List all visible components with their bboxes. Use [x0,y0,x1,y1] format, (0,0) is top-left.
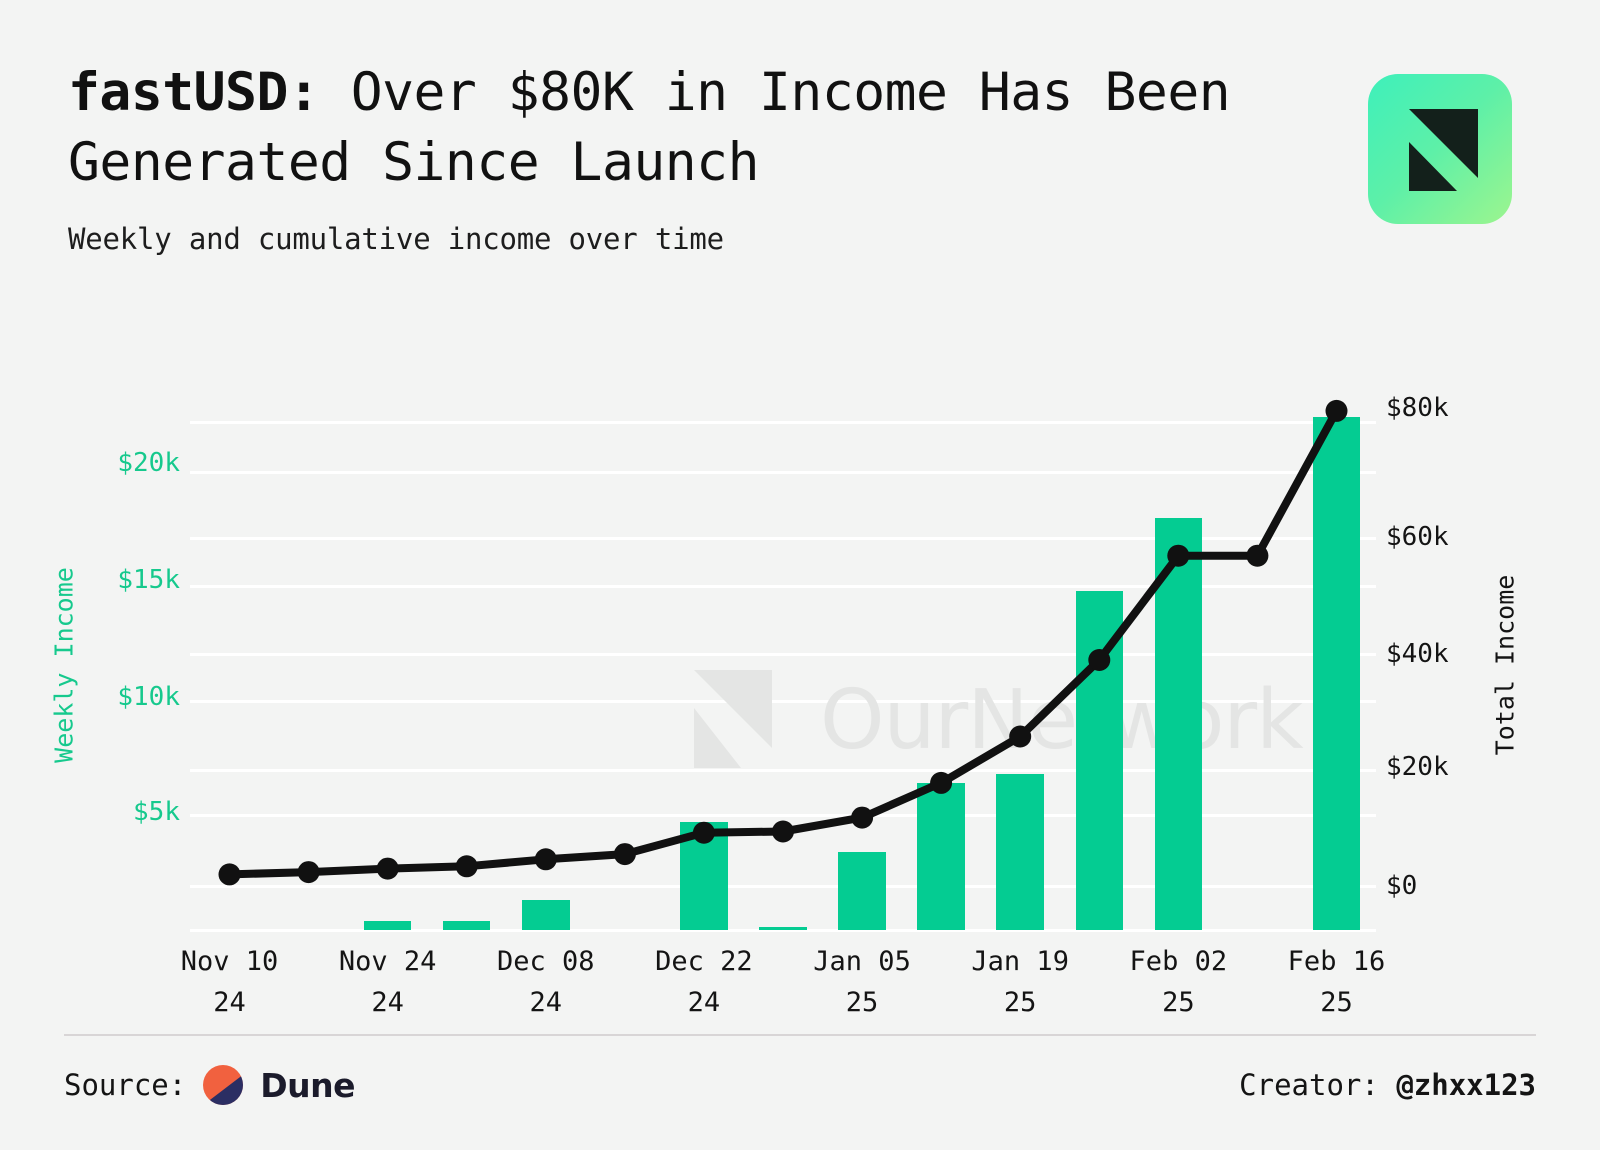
line-series [190,400,1376,930]
x-axis-tick-date: Dec 08 [497,942,595,983]
line-marker [219,863,241,885]
y-axis-left-tick: $15k [117,565,180,595]
y-axis-left-tick: $20k [117,448,180,478]
creator-label: Creator: [1239,1068,1379,1102]
x-axis-tick: Dec 2224 [655,942,753,1023]
y-axis-left-title: Weekly Income [50,567,79,763]
x-axis-tick-year: 24 [181,983,279,1024]
x-axis-tick: Feb 1625 [1288,942,1386,1023]
x-axis-tick: Jan 1925 [971,942,1069,1023]
y-axis-right-title: Total Income [1491,575,1520,756]
page-subtitle: Weekly and cumulative income over time [68,222,1368,256]
dune-logo-icon [202,1064,244,1106]
x-axis-tick-date: Jan 05 [813,942,911,983]
y-axis-left-tick: $5k [133,797,180,827]
source-name: Dune [260,1066,355,1105]
line-marker [1326,400,1348,422]
y-axis-right-tick: $60k [1386,522,1449,552]
x-axis-tick: Jan 0525 [813,942,911,1023]
x-axis-tick-year: 25 [1130,983,1228,1024]
x-axis-tick: Feb 0225 [1130,942,1228,1023]
x-axis-tick-year: 24 [497,983,595,1024]
x-axis-tick-date: Feb 02 [1130,942,1228,983]
line-marker [1167,545,1189,567]
ournetwork-logo-icon [1368,74,1512,224]
line-marker [772,821,794,843]
page-title: fastUSD: Over $80K in Income Has Been Ge… [68,58,1368,198]
line-marker [614,843,636,865]
line-marker [693,822,715,844]
line-marker [851,807,873,829]
x-axis-tick-date: Dec 22 [655,942,753,983]
footer-divider [64,1034,1536,1036]
x-axis-tick-date: Nov 10 [181,942,279,983]
x-axis-tick: Nov 2424 [339,942,437,1023]
creator-handle: @zhxx123 [1396,1068,1536,1102]
cumulative-line [230,411,1337,875]
source-block: Source: Dune [64,1064,355,1106]
chart-area: $5k $10k $15k $20k $0 $20k $40k $60k $80… [0,330,1600,1030]
x-axis-tick-date: Nov 24 [339,942,437,983]
line-marker [930,772,952,794]
creator-block: Creator: @zhxx123 [1239,1068,1536,1102]
y-axis-right-tick: $80k [1386,393,1449,423]
footer: Source: Dune Creator: @zhxx123 [64,1055,1536,1115]
x-axis-tick-date: Jan 19 [971,942,1069,983]
x-axis-tick-year: 24 [655,983,753,1024]
x-axis-tick-year: 25 [1288,983,1386,1024]
x-axis-tick: Nov 1024 [181,942,279,1023]
line-marker [298,861,320,883]
line-marker [535,848,557,870]
x-axis-tick-year: 25 [813,983,911,1024]
line-marker [1009,726,1031,748]
y-axis-right-tick: $40k [1386,639,1449,669]
source-label: Source: [64,1068,186,1102]
x-axis-tick-date: Feb 16 [1288,942,1386,983]
x-axis-tick: Dec 0824 [497,942,595,1023]
line-marker [1088,649,1110,671]
page-title-emphasis: fastUSD: [68,62,319,123]
x-axis-tick-year: 25 [971,983,1069,1024]
y-axis-right-tick: $20k [1386,752,1449,782]
y-axis-left-tick: $10k [117,682,180,712]
line-marker [456,855,478,877]
chart-page: fastUSD: Over $80K in Income Has Been Ge… [0,0,1600,1150]
y-axis-right-tick: $0 [1386,871,1417,901]
plot-region: OurNetwork [190,400,1376,930]
line-marker [377,858,399,880]
header: fastUSD: Over $80K in Income Has Been Ge… [68,58,1368,256]
x-axis-tick-year: 24 [339,983,437,1024]
line-marker [1246,545,1268,567]
